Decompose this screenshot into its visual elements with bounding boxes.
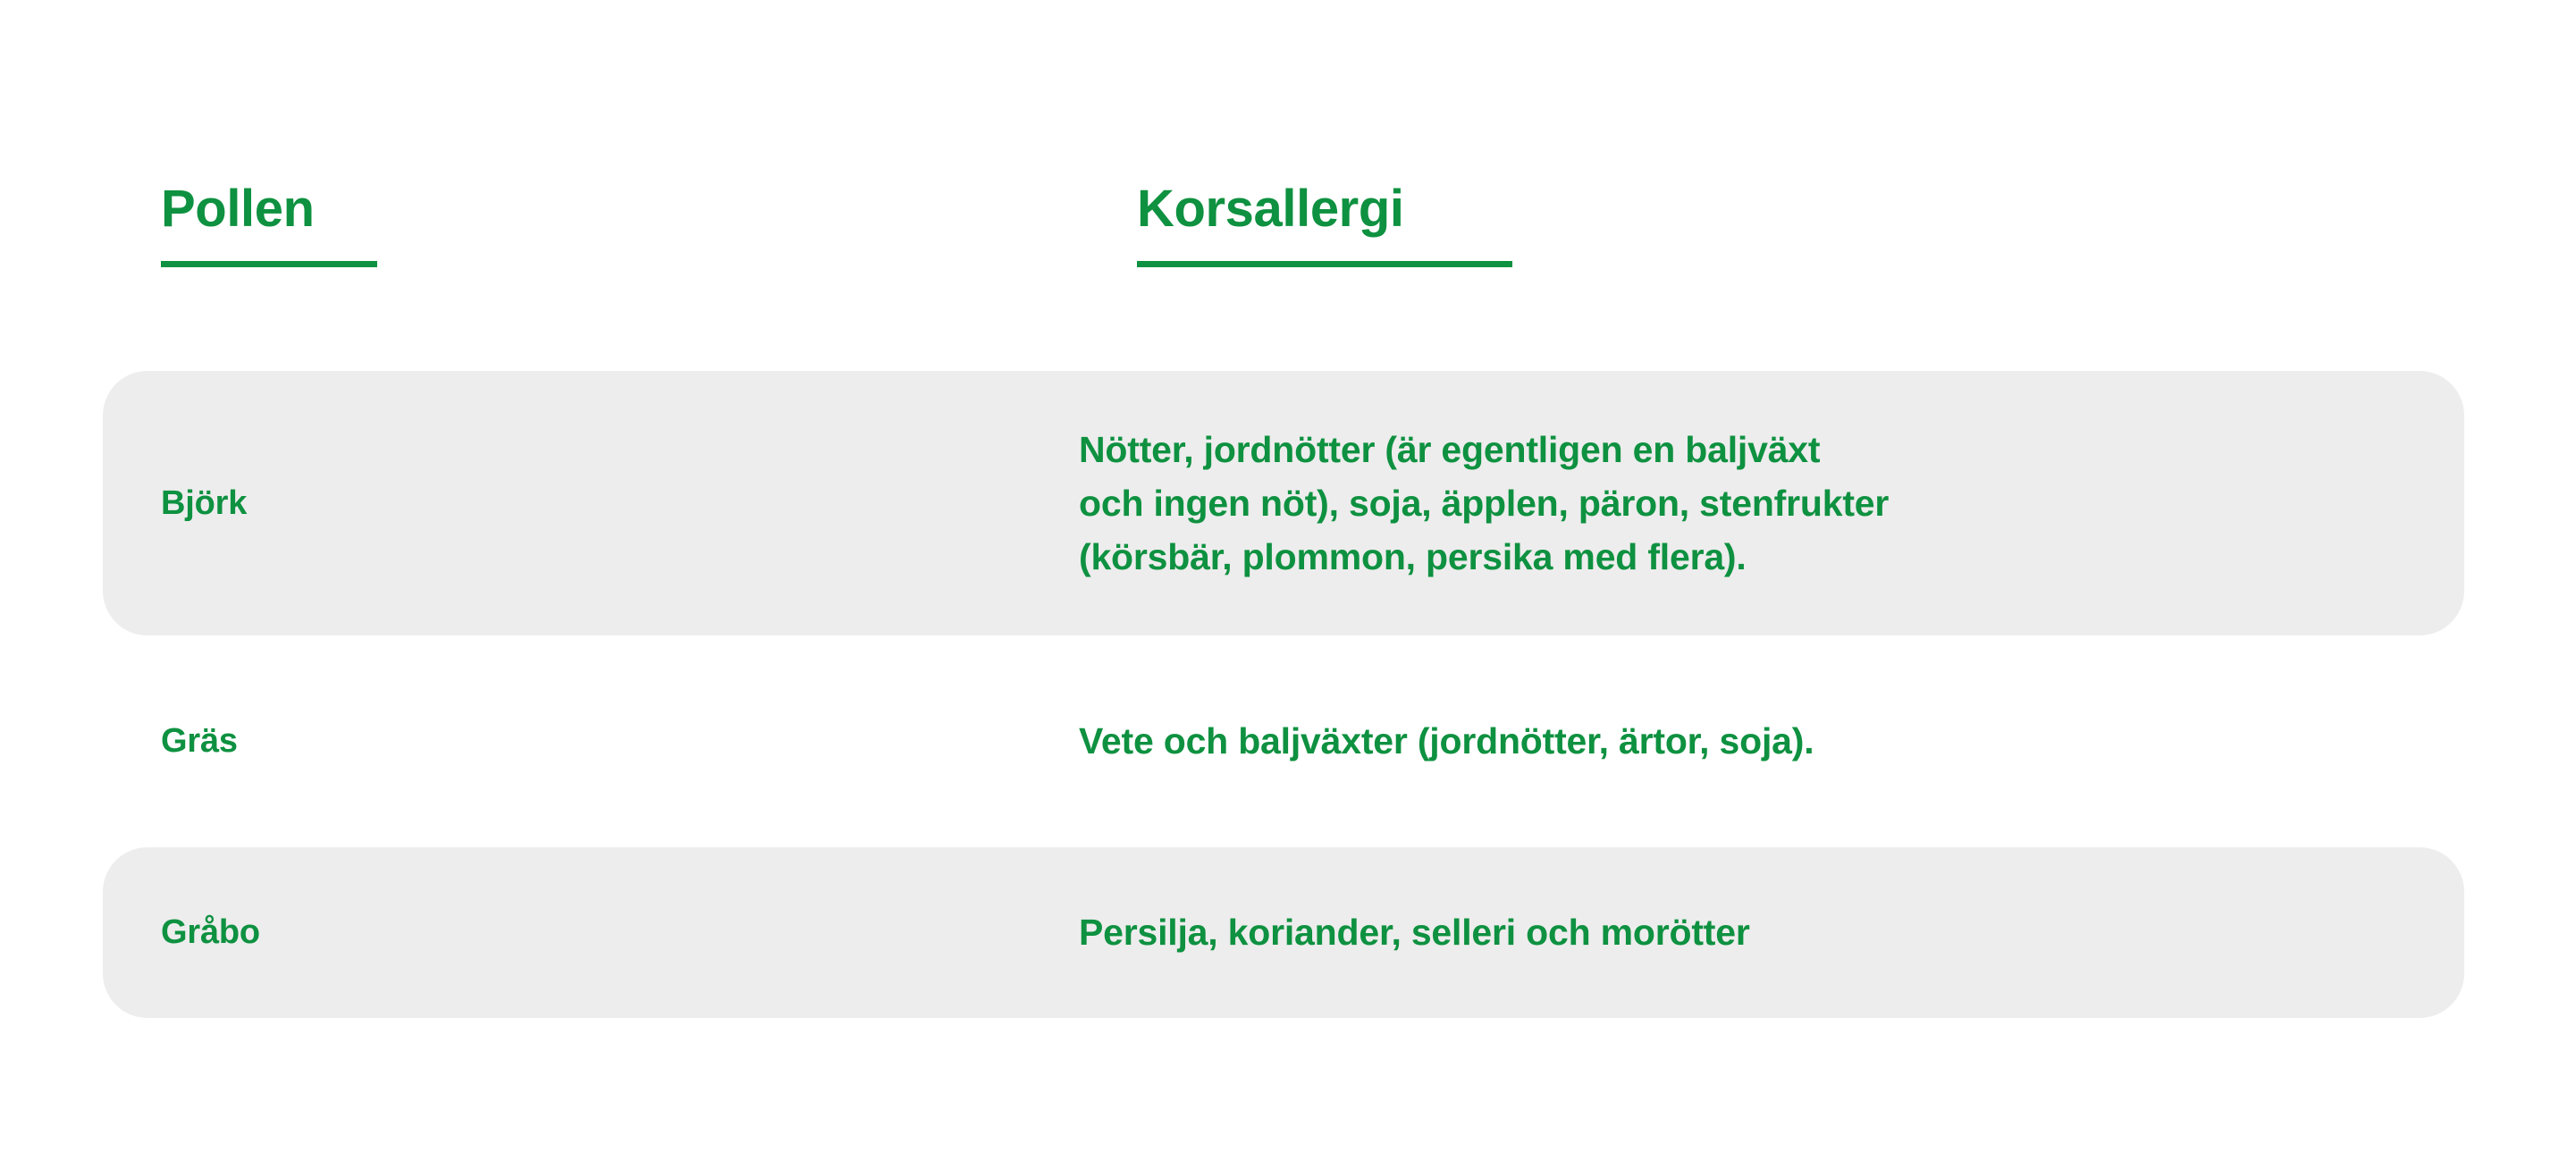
- table-header-row: Pollen Korsallergi: [0, 183, 2576, 290]
- cell-cross-allergy: Nötter, jordnötter (är egentligen en bal…: [1079, 423, 2464, 585]
- column-header-pollen-label: Pollen: [161, 183, 1108, 235]
- pollen-cross-allergy-table: Pollen Korsallergi Björk Nötter, jordnöt…: [0, 0, 2576, 1161]
- cell-pollen-name: Björk: [103, 484, 1079, 523]
- column-header-korsallergi-label: Korsallergi: [1137, 183, 2415, 235]
- table-row: Gråbo Persilja, koriander, selleri och m…: [103, 847, 2464, 1018]
- cross-allergy-line: Vete och baljväxter (jordnötter, ärtor, …: [1079, 714, 2366, 768]
- column-header-korsallergi-underline: [1137, 261, 1512, 267]
- cell-cross-allergy: Persilja, koriander, selleri och morötte…: [1079, 905, 2464, 959]
- column-header-pollen: Pollen: [161, 183, 1108, 267]
- cross-allergy-line: och ingen nöt), soja, äpplen, päron, ste…: [1079, 476, 2366, 530]
- cell-pollen-name: Gråbo: [103, 913, 1079, 952]
- cross-allergy-line: (körsbär, plommon, persika med flera).: [1079, 530, 2366, 584]
- table-body: Björk Nötter, jordnötter (är egentligen …: [103, 371, 2464, 1018]
- table-row: Björk Nötter, jordnötter (är egentligen …: [103, 371, 2464, 635]
- cross-allergy-line: Nötter, jordnötter (är egentligen en bal…: [1079, 423, 2366, 476]
- cell-cross-allergy: Vete och baljväxter (jordnötter, ärtor, …: [1079, 714, 2464, 768]
- cell-pollen-name: Gräs: [103, 722, 1079, 761]
- column-header-pollen-underline: [161, 261, 377, 267]
- column-header-korsallergi: Korsallergi: [1137, 183, 2415, 267]
- table-row: Gräs Vete och baljväxter (jordnötter, är…: [103, 635, 2464, 847]
- cross-allergy-line: Persilja, koriander, selleri och morötte…: [1079, 905, 2366, 959]
